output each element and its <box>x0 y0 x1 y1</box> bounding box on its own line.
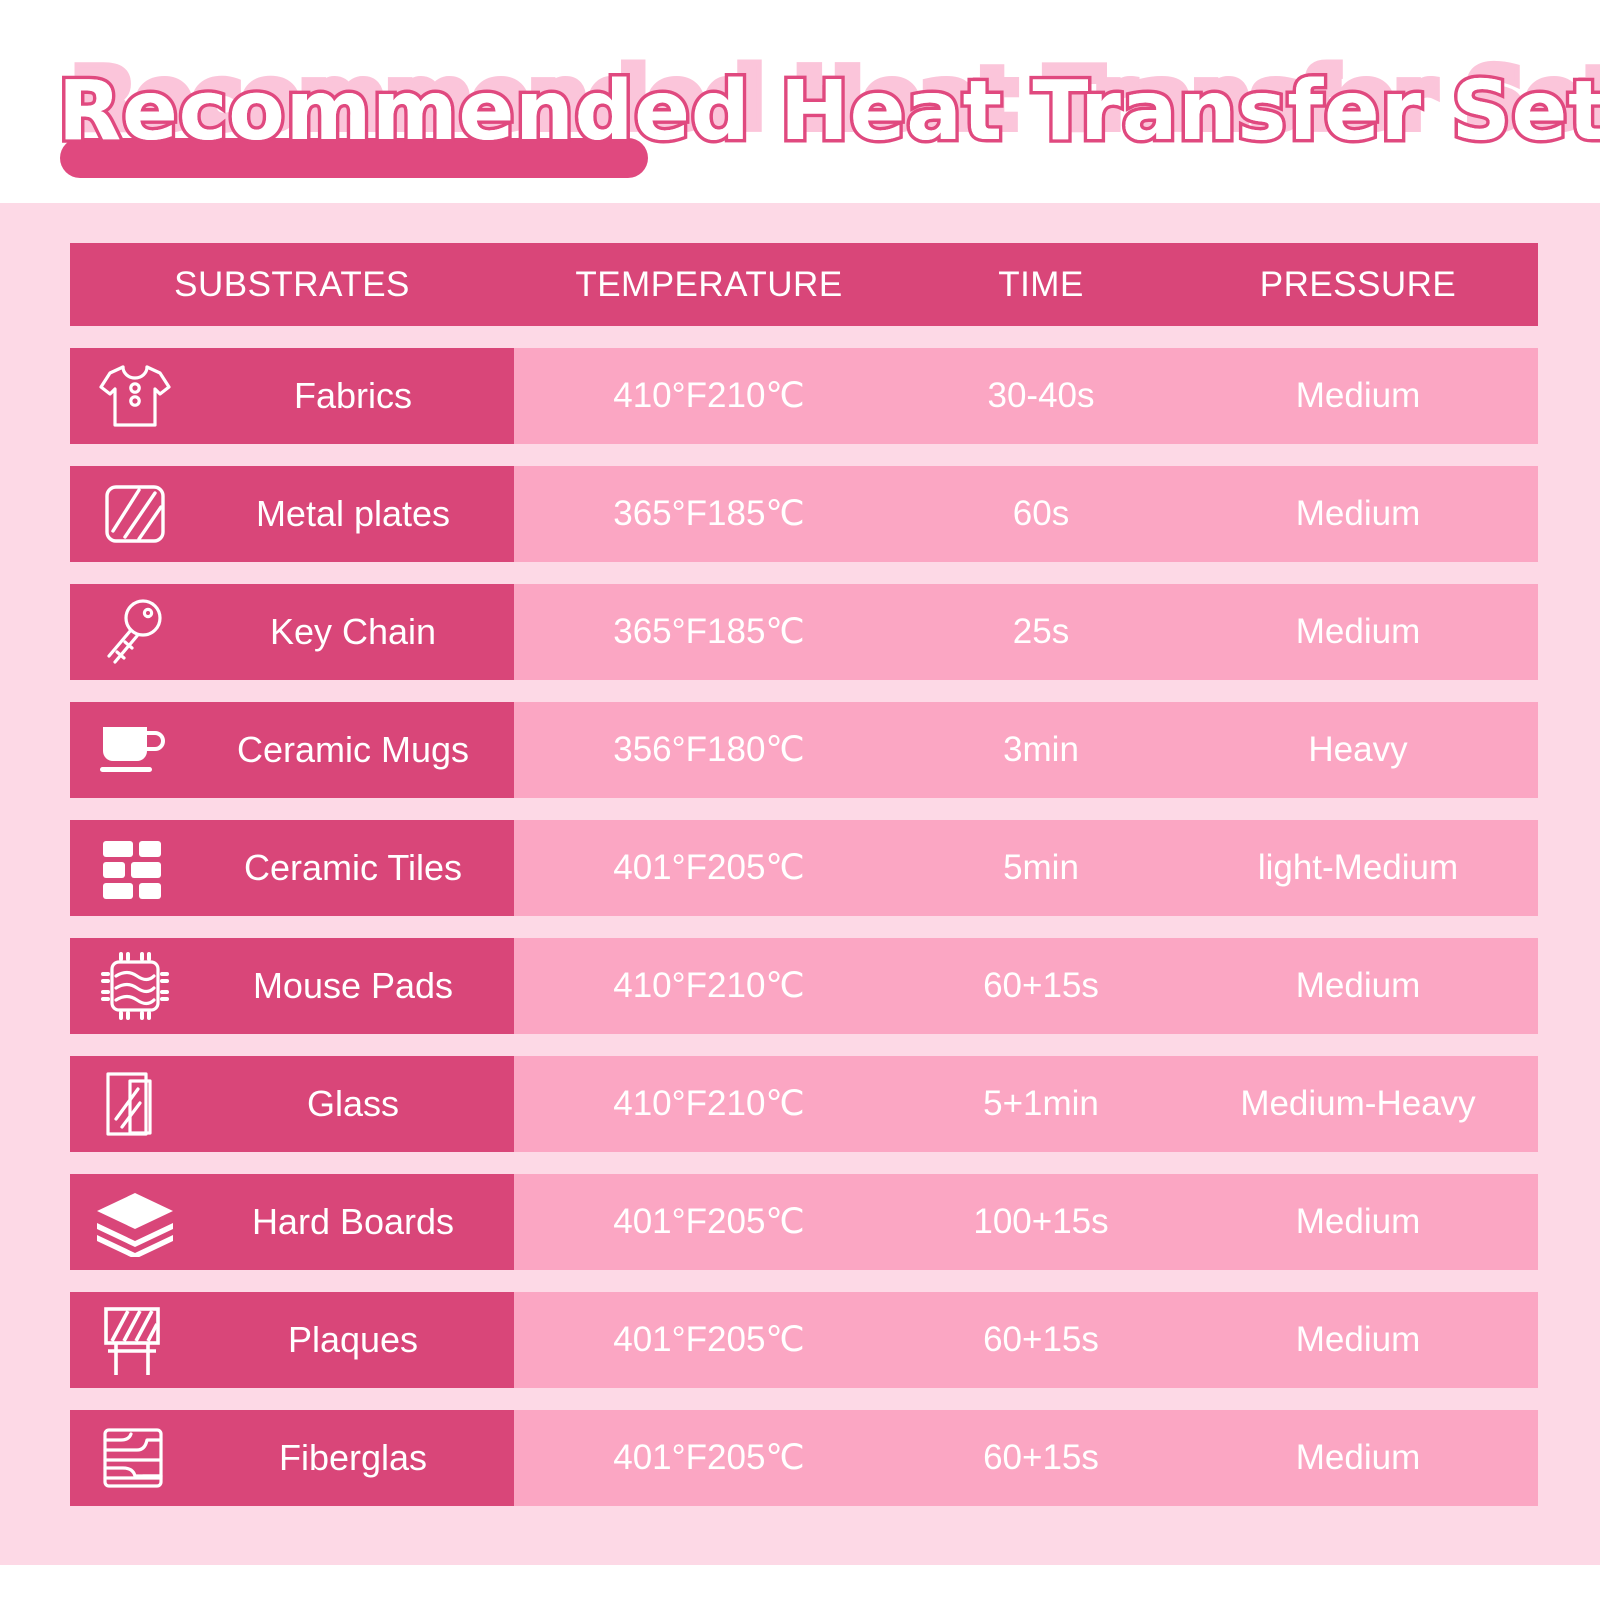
substrate-label: Ceramic Mugs <box>200 729 514 771</box>
time-value: 3min <box>904 730 1178 770</box>
substrate-label: Hard Boards <box>200 1201 514 1243</box>
pressure-value: Medium <box>1178 1320 1538 1360</box>
substrate-cell: Ceramic Tiles <box>70 820 514 916</box>
table-header-row: SUBSTRATES TEMPERATURE TIME PRESSURE <box>70 243 1538 326</box>
fiberglas-icon <box>70 1422 200 1494</box>
temperature-value: 410°F210℃ <box>514 966 904 1006</box>
column-header-time: TIME <box>904 265 1178 305</box>
layers-icon <box>70 1187 200 1257</box>
value-strip: 356°F180℃ 3min Heavy <box>514 702 1538 798</box>
temperature-value: 410°F210℃ <box>514 1084 904 1124</box>
time-value: 25s <box>904 612 1178 652</box>
table-row: Hard Boards 401°F205℃ 100+15s Medium <box>70 1174 1538 1270</box>
column-header-substrates: SUBSTRATES <box>70 265 514 305</box>
temperature-value: 365°F185℃ <box>514 494 904 534</box>
value-strip: 410°F210℃ 30-40s Medium <box>514 348 1538 444</box>
temperature-value: 401°F205℃ <box>514 1202 904 1242</box>
mousepad-icon <box>70 948 200 1024</box>
pressure-value: Medium <box>1178 376 1538 416</box>
value-strip: 410°F210℃ 5+1min Medium-Heavy <box>514 1056 1538 1152</box>
plaque-icon <box>70 1301 200 1379</box>
column-header-temperature: TEMPERATURE <box>514 265 904 305</box>
metal-plate-icon <box>70 479 200 549</box>
time-value: 60+15s <box>904 966 1178 1006</box>
substrate-label: Glass <box>200 1083 514 1125</box>
value-strip: 410°F210℃ 60+15s Medium <box>514 938 1538 1034</box>
temperature-value: 410°F210℃ <box>514 376 904 416</box>
tshirt-icon <box>70 361 200 431</box>
table-row: Plaques 401°F205℃ 60+15s Medium <box>70 1292 1538 1388</box>
content-sheet: SUBSTRATES TEMPERATURE TIME PRESSURE <box>0 203 1600 1565</box>
substrate-cell: Fiberglas <box>70 1410 514 1506</box>
heat-transfer-settings-chart: Recommended Heat Transfer Settings Recom… <box>0 0 1600 1600</box>
substrate-label: Metal plates <box>200 493 514 535</box>
page-title: Recommended Heat Transfer Settings Recom… <box>58 56 1558 176</box>
pressure-value: light-Medium <box>1178 848 1538 888</box>
glass-icon <box>70 1067 200 1141</box>
table-row: Fiberglas 401°F205℃ 60+15s Medium <box>70 1410 1538 1506</box>
table-row: Glass 410°F210℃ 5+1min Medium-Heavy <box>70 1056 1538 1152</box>
pressure-value: Heavy <box>1178 730 1538 770</box>
table-row: Metal plates 365°F185℃ 60s Medium <box>70 466 1538 562</box>
key-icon <box>70 596 200 668</box>
table-row: Ceramic Mugs 356°F180℃ 3min Heavy <box>70 702 1538 798</box>
pressure-value: Medium-Heavy <box>1178 1084 1538 1124</box>
value-strip: 365°F185℃ 25s Medium <box>514 584 1538 680</box>
time-value: 5min <box>904 848 1178 888</box>
substrate-cell: Glass <box>70 1056 514 1152</box>
value-strip: 401°F205℃ 100+15s Medium <box>514 1174 1538 1270</box>
pressure-value: Medium <box>1178 1438 1538 1478</box>
time-value: 60s <box>904 494 1178 534</box>
pressure-value: Medium <box>1178 494 1538 534</box>
value-strip: 365°F185℃ 60s Medium <box>514 466 1538 562</box>
pressure-value: Medium <box>1178 612 1538 652</box>
title-band: Recommended Heat Transfer Settings Recom… <box>0 0 1600 203</box>
value-strip: 401°F205℃ 60+15s Medium <box>514 1292 1538 1388</box>
temperature-value: 401°F205℃ <box>514 848 904 888</box>
temperature-value: 401°F205℃ <box>514 1320 904 1360</box>
pressure-value: Medium <box>1178 1202 1538 1242</box>
substrate-cell: Hard Boards <box>70 1174 514 1270</box>
substrate-label: Fiberglas <box>200 1437 514 1479</box>
time-value: 30-40s <box>904 376 1178 416</box>
time-value: 60+15s <box>904 1320 1178 1360</box>
mug-icon <box>70 717 200 783</box>
page-title-text: Recommended Heat Transfer Settings <box>58 56 1578 168</box>
substrate-label: Ceramic Tiles <box>200 847 514 889</box>
table-row: Key Chain 365°F185℃ 25s Medium <box>70 584 1538 680</box>
temperature-value: 356°F180℃ <box>514 730 904 770</box>
value-strip: 401°F205℃ 5min light-Medium <box>514 820 1538 916</box>
time-value: 100+15s <box>904 1202 1178 1242</box>
temperature-value: 365°F185℃ <box>514 612 904 652</box>
column-header-pressure: PRESSURE <box>1178 265 1538 305</box>
tiles-icon <box>70 833 200 903</box>
pressure-value: Medium <box>1178 966 1538 1006</box>
time-value: 5+1min <box>904 1084 1178 1124</box>
substrate-cell: Ceramic Mugs <box>70 702 514 798</box>
settings-table: SUBSTRATES TEMPERATURE TIME PRESSURE <box>70 243 1538 1506</box>
substrate-label: Fabrics <box>200 375 514 417</box>
substrate-label: Key Chain <box>200 611 514 653</box>
substrate-cell: Mouse Pads <box>70 938 514 1034</box>
substrate-cell: Metal plates <box>70 466 514 562</box>
value-strip: 401°F205℃ 60+15s Medium <box>514 1410 1538 1506</box>
substrate-cell: Key Chain <box>70 584 514 680</box>
table-row: Fabrics 410°F210℃ 30-40s Medium <box>70 348 1538 444</box>
substrate-cell: Fabrics <box>70 348 514 444</box>
time-value: 60+15s <box>904 1438 1178 1478</box>
substrate-label: Mouse Pads <box>200 965 514 1007</box>
substrate-label: Plaques <box>200 1319 514 1361</box>
temperature-value: 401°F205℃ <box>514 1438 904 1478</box>
table-row: Ceramic Tiles 401°F205℃ 5min light-Mediu… <box>70 820 1538 916</box>
table-row: Mouse Pads 410°F210℃ 60+15s Medium <box>70 938 1538 1034</box>
substrate-cell: Plaques <box>70 1292 514 1388</box>
